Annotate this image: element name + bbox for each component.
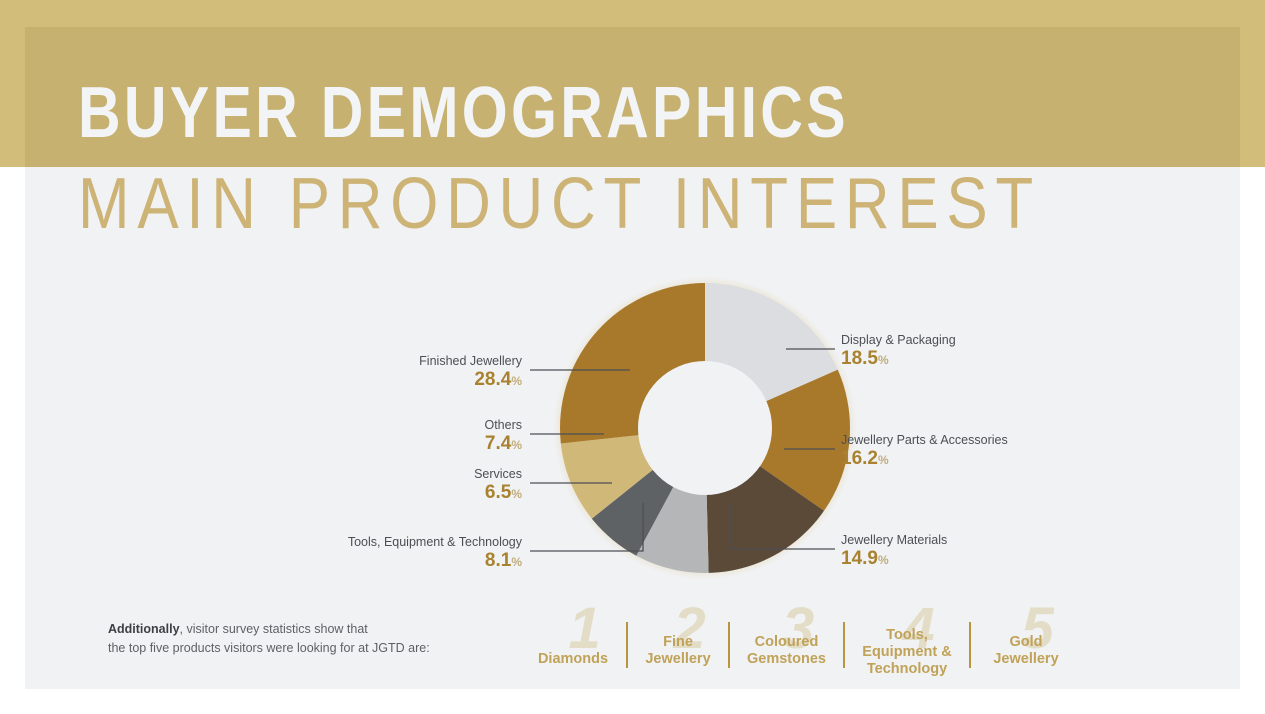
callout-label: Others — [178, 418, 522, 433]
callout-services: Services 6.5% — [178, 467, 522, 505]
callout-label: Finished Jewellery — [178, 354, 522, 369]
donut-chart — [545, 268, 865, 588]
donut-chart-svg — [545, 268, 865, 588]
donut-segments — [545, 268, 865, 588]
top-five-item-1[interactable]: 1 Diamonds — [520, 602, 626, 682]
rank-label: Diamonds — [538, 651, 608, 682]
survey-note-line1-rest: , visitor survey statistics show that — [180, 622, 368, 636]
callout-value: 18.5% — [841, 348, 956, 371]
top-five-item-4[interactable]: 4 Tools, Equipment & Technology — [845, 602, 969, 682]
callout-value: 8.1% — [178, 550, 522, 573]
callout-value: 7.4% — [178, 433, 522, 456]
rank-label: Gold Jewellery — [993, 634, 1058, 682]
callout-others: Others 7.4% — [178, 418, 522, 456]
rank-label: Coloured Gemstones — [747, 634, 826, 682]
page-title-sub: MAIN PRODUCT INTEREST — [78, 168, 1041, 240]
callout-label: Display & Packaging — [841, 333, 956, 348]
top-five-item-3[interactable]: 3 Coloured Gemstones — [730, 602, 843, 682]
segment-finished-jewellery[interactable] — [545, 268, 705, 445]
survey-note-line1: Additionally, visitor survey statistics … — [108, 620, 430, 639]
callout-finished-jewellery: Finished Jewellery 28.4% — [178, 354, 522, 392]
top-five-item-5[interactable]: 5 Gold Jewellery — [971, 602, 1081, 682]
rank-label: Tools, Equipment & Technology — [862, 627, 951, 682]
callout-tools-equipment: Tools, Equipment & Technology 8.1% — [178, 535, 522, 573]
callout-label: Jewellery Materials — [841, 533, 947, 548]
page-title: BUYER DEMOGRAPHICS — [78, 78, 1078, 148]
callout-label: Services — [178, 467, 522, 482]
callout-jewellery-parts: Jewellery Parts & Accessories 16.2% — [841, 433, 1008, 471]
rank-label: Fine Jewellery — [645, 634, 710, 682]
callout-value: 6.5% — [178, 482, 522, 505]
top-five-products: 1 Diamonds 2 Fine Jewellery 3 Coloured G… — [520, 602, 1120, 682]
top-five-item-2[interactable]: 2 Fine Jewellery — [628, 602, 728, 682]
rank-number: 1 — [568, 600, 600, 658]
slide-canvas: BUYER DEMOGRAPHICS MAIN PRODUCT INTEREST — [0, 0, 1265, 714]
page-title-main: BUYER DEMOGRAPHICS — [78, 78, 898, 148]
callout-value: 14.9% — [841, 548, 947, 571]
callout-display-packaging: Display & Packaging 18.5% — [841, 333, 956, 371]
callout-value: 16.2% — [841, 448, 1008, 471]
callout-value: 28.4% — [178, 369, 522, 392]
callout-jewellery-materials: Jewellery Materials 14.9% — [841, 533, 947, 571]
survey-note: Additionally, visitor survey statistics … — [108, 620, 430, 658]
callout-label: Jewellery Parts & Accessories — [841, 433, 1008, 448]
survey-note-line2: the top five products visitors were look… — [108, 639, 430, 658]
callout-label: Tools, Equipment & Technology — [178, 535, 522, 550]
survey-note-lead: Additionally — [108, 622, 180, 636]
